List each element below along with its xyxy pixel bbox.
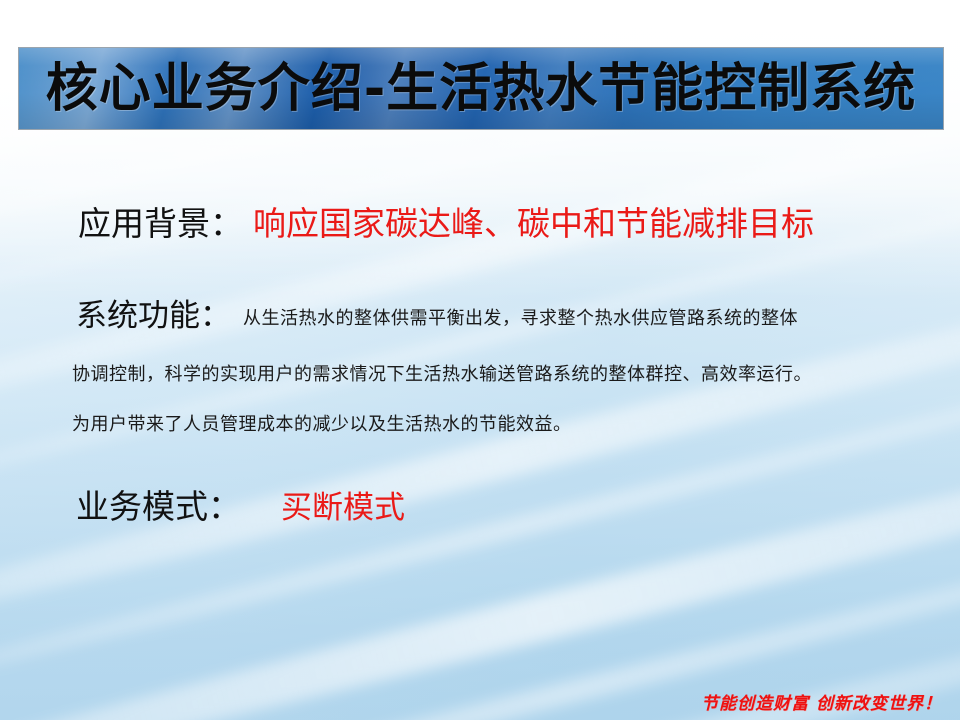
business-mode-label: 业务模式： — [76, 490, 241, 526]
system-function-line-3-row: 为用户带来了人员管理成本的减少以及生活热水的节能效益。 — [72, 415, 572, 435]
application-background-label: 应用背景： — [78, 207, 243, 243]
title-banner: 核心业务介绍-生活热水节能控制系统 — [18, 47, 944, 130]
business-mode-value: 买断模式 — [281, 490, 405, 525]
section-business-mode: 业务模式：买断模式 — [76, 492, 405, 525]
section-application-background: 应用背景：响应国家碳达峰、碳中和节能减排目标 — [78, 209, 814, 242]
application-background-value: 响应国家碳达峰、碳中和节能减排目标 — [253, 207, 814, 243]
system-function-line-2: 协调控制，科学的实现用户的需求情况下生活热水输送管路系统的整体群控、高效率运行。 — [72, 364, 812, 384]
system-function-line-1: 从生活热水的整体供需平衡出发，寻求整个热水供应管路系统的整体 — [243, 308, 798, 328]
system-function-line-3: 为用户带来了人员管理成本的减少以及生活热水的节能效益。 — [72, 414, 572, 434]
slide-canvas: 核心业务介绍-生活热水节能控制系统 应用背景：响应国家碳达峰、碳中和节能减排目标… — [0, 0, 960, 720]
system-function-line-2-row: 协调控制，科学的实现用户的需求情况下生活热水输送管路系统的整体群控、高效率运行。 — [72, 365, 812, 385]
section-system-function: 系统功能：从生活热水的整体供需平衡出发，寻求整个热水供应管路系统的整体 — [76, 300, 798, 331]
footer-slogan: 节能创造财富 创新改变世界！ — [701, 689, 942, 714]
system-function-label: 系统功能： — [76, 298, 231, 333]
page-title: 核心业务介绍-生活热水节能控制系统 — [19, 63, 943, 115]
